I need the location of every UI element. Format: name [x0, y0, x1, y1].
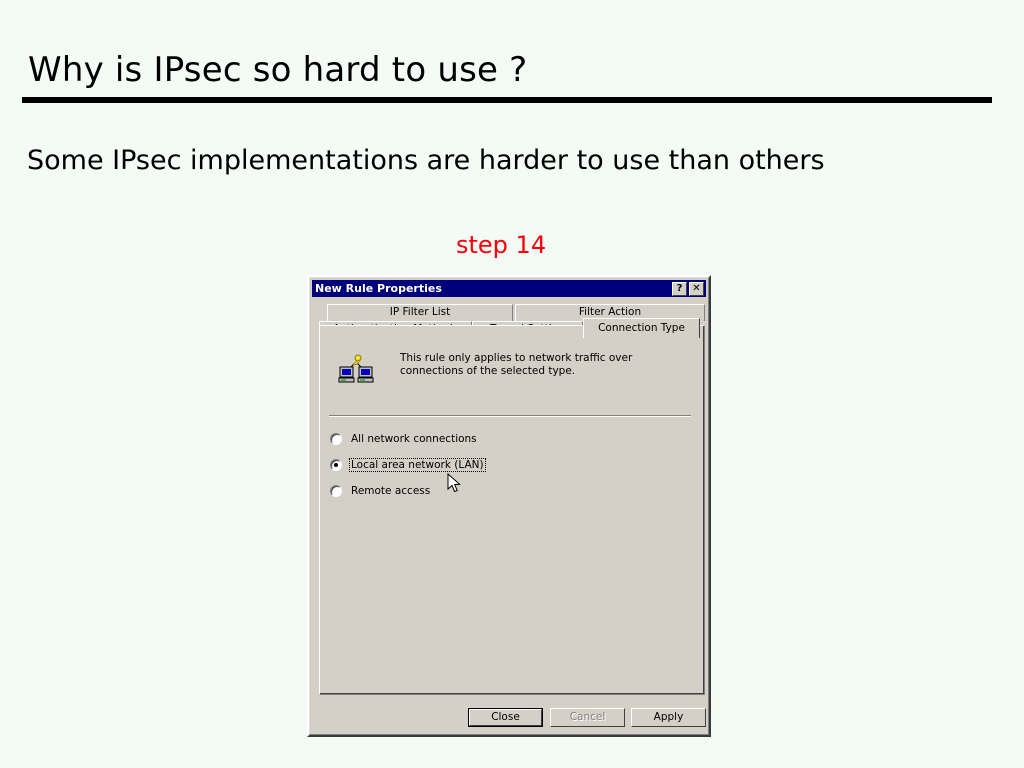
step-annotation: step 14 — [456, 231, 546, 259]
close-button-label: Close — [491, 711, 520, 723]
two-computers-with-key-icon — [338, 354, 374, 384]
tab-panel-connection-type: This rule only applies to network traffi… — [319, 325, 705, 695]
info-row: This rule only applies to network traffi… — [338, 352, 688, 384]
radio-local-area-network[interactable]: Local area network (LAN) — [330, 458, 530, 471]
dialog-button-bar: Close Cancel Apply — [309, 704, 709, 730]
radio-indicator[interactable] — [330, 433, 342, 445]
radio-label: Remote access — [349, 484, 432, 498]
cancel-button: Cancel — [550, 708, 625, 727]
radio-label: Local area network (LAN) — [349, 458, 486, 472]
help-icon[interactable]: ? — [672, 282, 687, 296]
radio-all-network-connections[interactable]: All network connections — [330, 432, 530, 445]
close-icon[interactable]: ✕ — [689, 282, 704, 296]
dialog-titlebar: New Rule Properties ? ✕ — [312, 280, 706, 297]
title-divider — [22, 97, 992, 103]
close-button[interactable]: Close — [468, 708, 543, 727]
radio-indicator-selected[interactable] — [330, 459, 342, 471]
titlebar-button-group: ? ✕ — [672, 282, 704, 296]
radio-remote-access[interactable]: Remote access — [330, 484, 530, 497]
page-title: Why is IPsec so hard to use ? — [28, 50, 527, 90]
dialog-title: New Rule Properties — [315, 282, 442, 295]
apply-button[interactable]: Apply — [631, 708, 706, 727]
section-divider — [329, 415, 691, 417]
radio-label: All network connections — [349, 432, 479, 446]
slide-subtitle: Some IPsec implementations are harder to… — [27, 145, 825, 176]
tab-ip-filter-list[interactable]: IP Filter List — [327, 304, 513, 321]
rule-description: This rule only applies to network traffi… — [400, 352, 688, 378]
new-rule-properties-dialog: New Rule Properties ? ✕ IP Filter List F… — [307, 275, 711, 737]
connection-type-radio-group: All network connections Local area netwo… — [330, 432, 530, 510]
tab-connection-type[interactable]: Connection Type — [583, 318, 700, 338]
radio-indicator[interactable] — [330, 485, 342, 497]
